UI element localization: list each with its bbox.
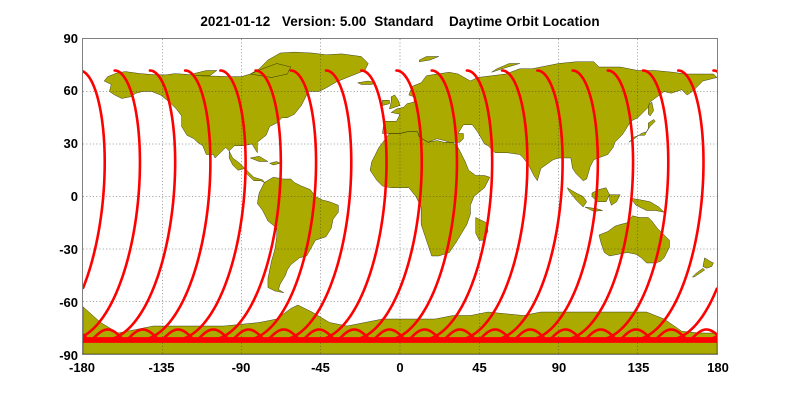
x-tick-label-180: 180 [688,361,748,374]
x-tick-label-135: 135 [609,361,669,374]
x-tick-label-neg180: -180 [52,361,112,374]
x-tick-label-45: 45 [450,361,510,374]
x-tick-label-neg45: -45 [291,361,351,374]
x-tick-label-0: 0 [370,361,430,374]
x-tick-label-neg90: -90 [211,361,271,374]
orbit-location-figure: 2021-01-12 Version: 5.00 Standard Daytim… [0,0,800,400]
x-tick-label-90: 90 [529,361,589,374]
x-tick-label-neg135: -135 [132,361,192,374]
x-axis-labels: -180-135-90-4504590135180 [0,0,800,400]
